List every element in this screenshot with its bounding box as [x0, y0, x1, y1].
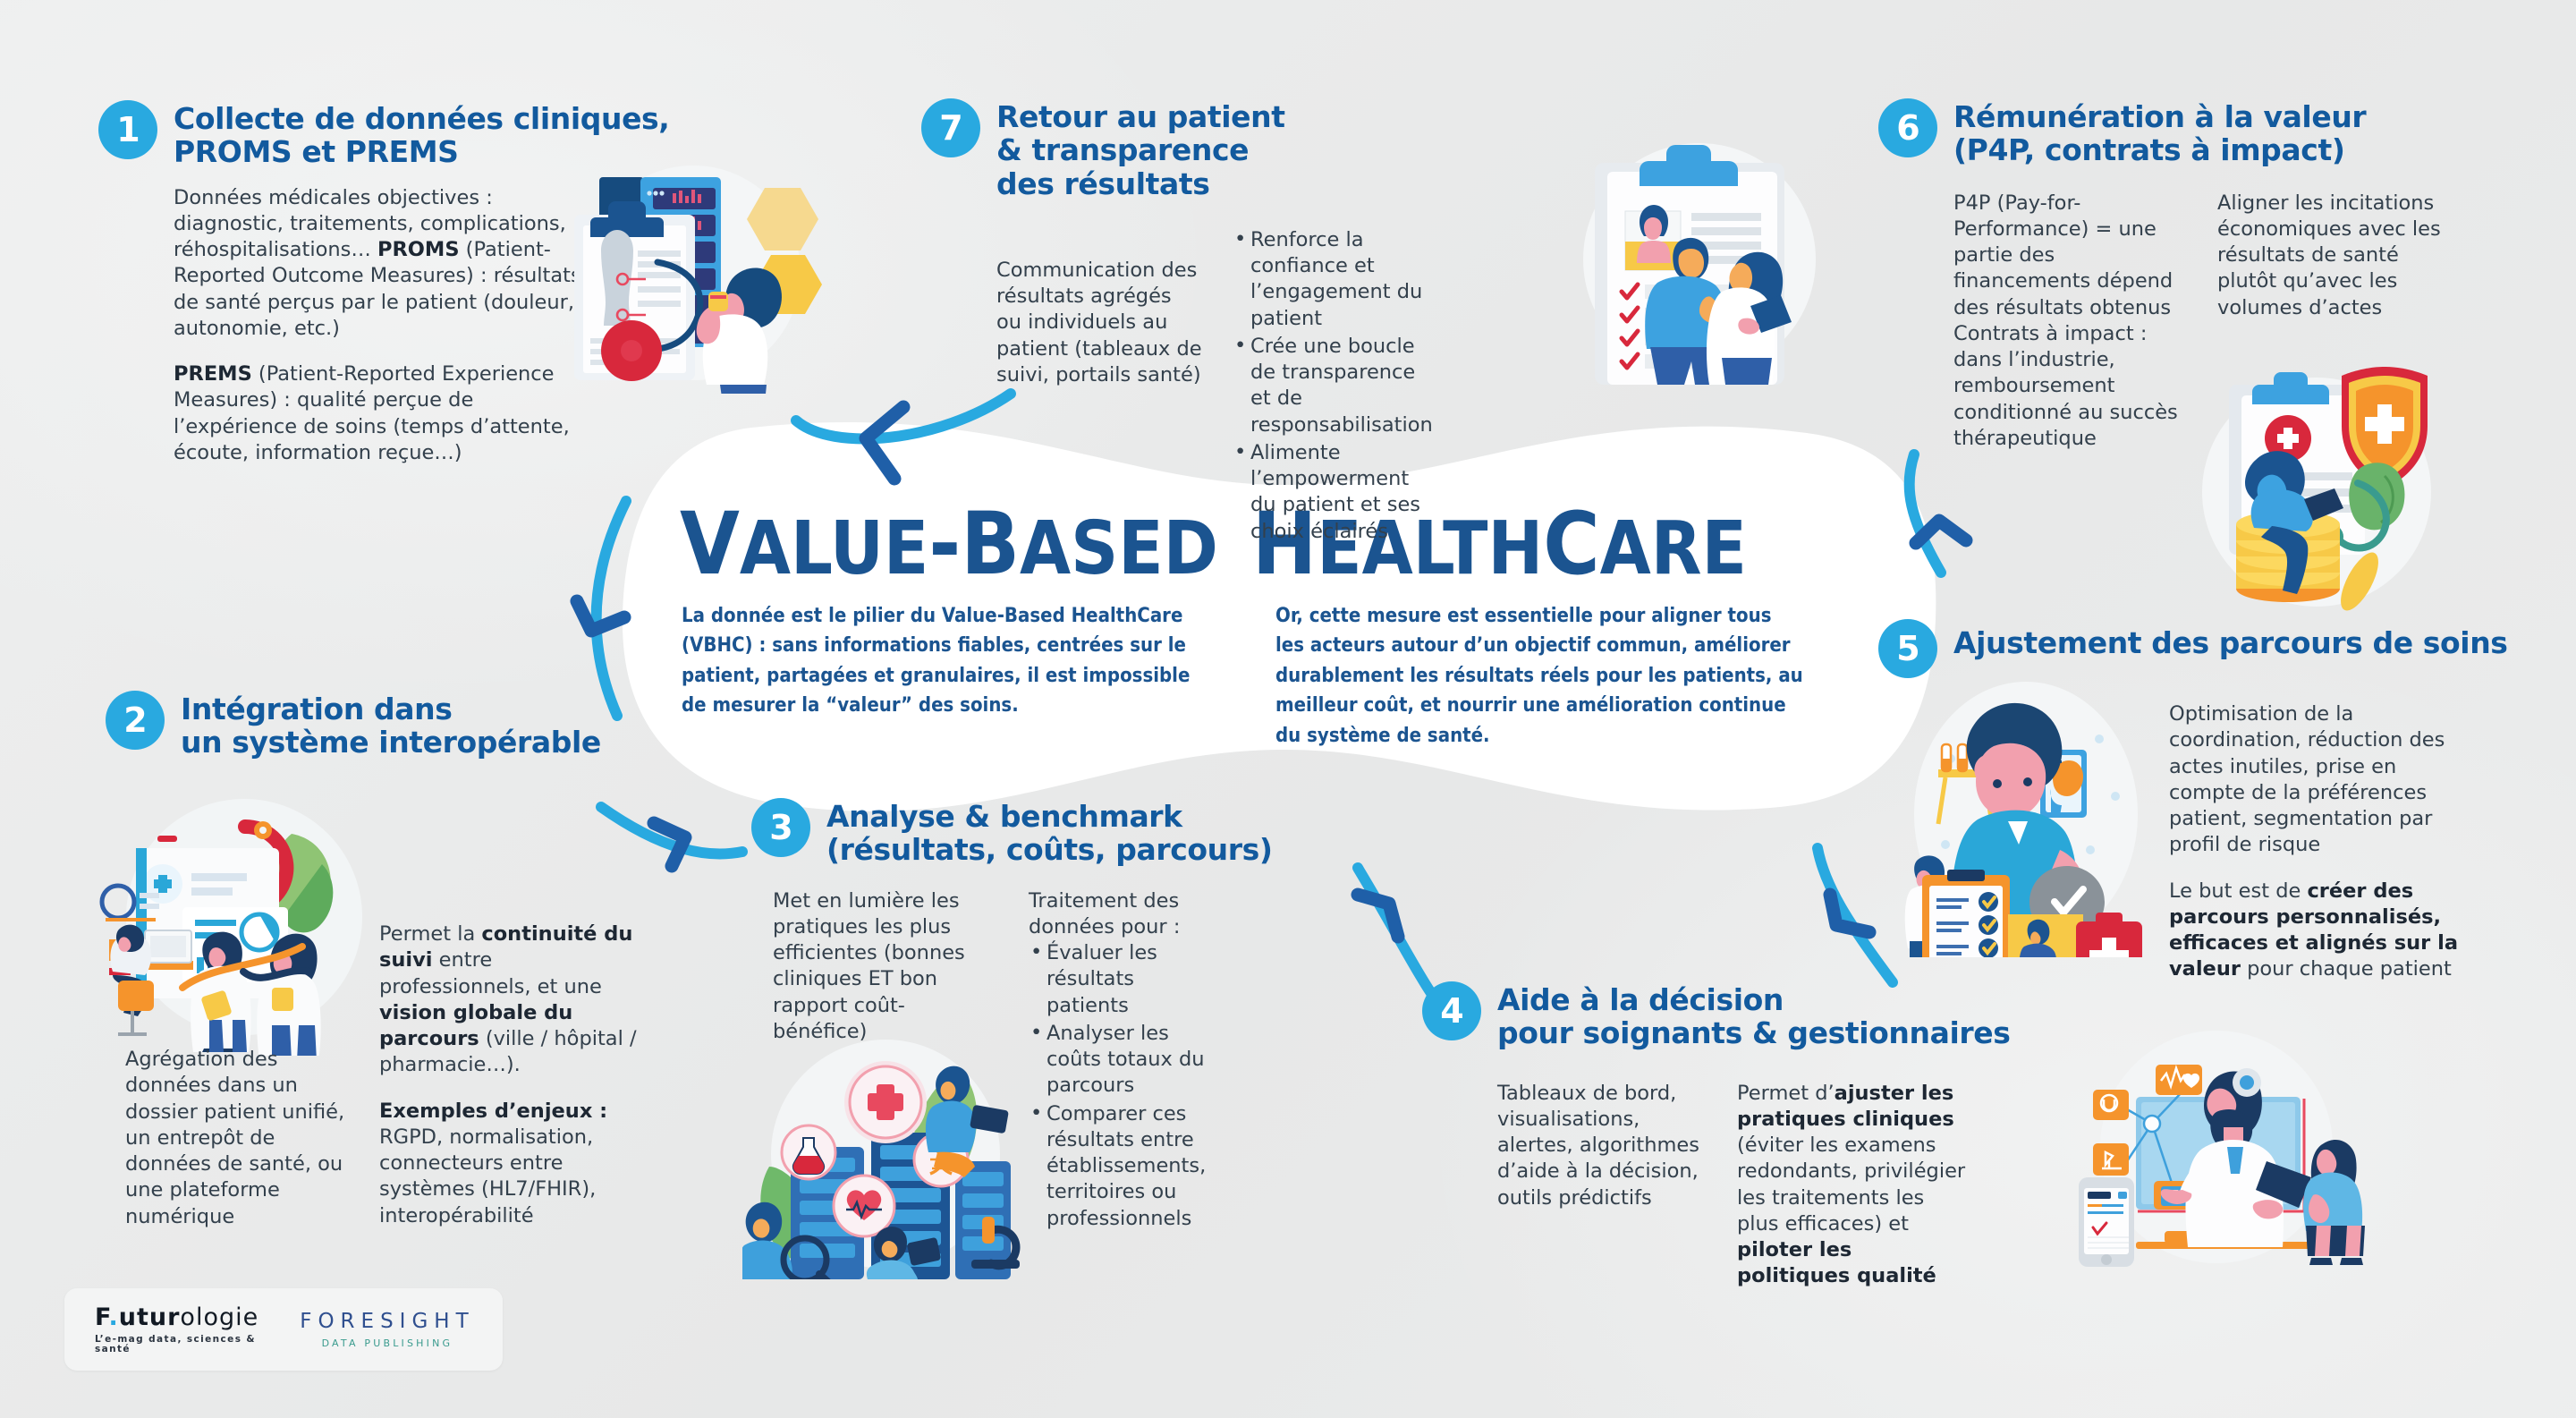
illustration-interoperable-system — [97, 796, 401, 1056]
futurologie-logo: F.uturologie L’e-mag data, sciences & sa… — [95, 1305, 258, 1354]
step-3-right-text: Traitement des données pour : Évaluer le… — [1029, 888, 1216, 1234]
step-4-right-text: Permet d’ajuster les pratiques cliniques… — [1737, 1081, 1970, 1290]
futurologie-tagline: L’e-mag data, sciences & santé — [95, 1335, 258, 1354]
list-item: Évaluer les résultats patients — [1029, 940, 1216, 1019]
futurologie-dot: . — [108, 1303, 118, 1331]
step-2-right-para-2: Exemples d’enjeux : RGPD, normalisation,… — [379, 1099, 639, 1229]
list-item: Comparer ces résultats entre établisseme… — [1029, 1101, 1216, 1232]
s4-rc: (éviter les examens redondants, privilég… — [1737, 1134, 1965, 1235]
step-4-head: 4 Aide à la décision pour soignants & ge… — [1422, 980, 2084, 1050]
step-7-columns: Communication des résultats agrégés ou i… — [996, 227, 1583, 547]
step-7-title: Retour au patient & transparence des rés… — [996, 97, 1285, 200]
s4-rd: piloter les politiques qualité — [1737, 1238, 1936, 1287]
vbhc-rest-are: ARE — [1600, 506, 1747, 591]
infographic-canvas: VALUE-BASEDHEALTHCARE La donnée est le p… — [0, 0, 2576, 1418]
futurologie-ologie: ologie — [180, 1303, 258, 1331]
step-5-title-line-1: Ajustement des parcours de soins — [1953, 626, 2508, 659]
step-4-columns: Tableaux de bord, visualisations, alerte… — [1497, 1081, 2084, 1290]
step-6-title-line-1: Rémunération à la valeur — [1953, 100, 2366, 133]
step-1-para-2: PREMS (Patient-Reported Experience Measu… — [174, 361, 585, 466]
step-7-title-line-3: des résultats — [996, 167, 1285, 200]
vbhc-cap-v: V — [680, 494, 740, 594]
step-2-number: 2 — [106, 691, 165, 750]
step-7-left-text: Communication des résultats agrégés ou i… — [996, 227, 1202, 547]
step-2: 2 Intégration dans un système interopéra… — [106, 689, 696, 760]
step-7-head: 7 Retour au patient & transparence des r… — [921, 97, 1583, 200]
step-6-title-line-2: (P4P, contrats à impact) — [1953, 133, 2366, 166]
step-5-para-1: Optimisation de la coordination, réducti… — [2169, 701, 2473, 859]
illustration-care-pathway — [1892, 662, 2151, 957]
list-item: Alimente l’empowerment du patient et ses… — [1233, 440, 1425, 545]
step-3-title-line-1: Analyse & benchmark — [826, 800, 1273, 833]
step-5-para-2: Le but est de créer des parcours personn… — [2169, 879, 2473, 983]
step-3-title-line-2: (résultats, coûts, parcours) — [826, 833, 1273, 866]
futurologie-f: F — [95, 1303, 108, 1331]
step-6-title: Rémunération à la valeur (P4P, contrats … — [1953, 97, 2366, 167]
step-7-number: 7 — [921, 98, 980, 157]
step-6-head: 6 Rémunération à la valeur (P4P, contrat… — [1878, 97, 2522, 167]
step-4: 4 Aide à la décision pour soignants & ge… — [1422, 980, 2084, 1290]
step-1-number: 1 — [98, 100, 157, 159]
step-4-title-line-2: pour soignants & gestionnaires — [1497, 1016, 2011, 1049]
step-2-head: 2 Intégration dans un système interopéra… — [106, 689, 696, 760]
center-paragraphs: La donnée est le pilier du Value-Based H… — [682, 601, 1871, 751]
step-4-title-line-1: Aide à la décision — [1497, 983, 2011, 1016]
vbhc-rest-alue: ALUE — [740, 506, 929, 591]
s2-r2-label: Exemples d’enjeux : — [379, 1100, 607, 1123]
step-3-right-intro: Traitement des données pour : — [1029, 888, 1216, 941]
list-item: Renforce la confiance et l’engagement du… — [1233, 227, 1425, 332]
step-7-title-line-2: & transparence — [996, 133, 1285, 166]
step-2-left-text: Agrégation des données dans un dossier p… — [125, 1047, 349, 1230]
step-1-prems-label: PREMS — [174, 362, 252, 386]
s4-ra: Permet d’ — [1737, 1082, 1835, 1105]
step-3-head: 3 Analyse & benchmark (résultats, coûts,… — [751, 796, 1324, 867]
illustration-decision-support — [2057, 1011, 2370, 1270]
step-5-para-2-c: pour chaque patient — [2241, 957, 2452, 981]
step-6-left-text: P4P (Pay-for-Performance) = une partie d… — [1953, 191, 2182, 453]
step-2-columns: Agrégation des données dans un dossier p… — [125, 1047, 698, 1230]
step-1-body: Données médicales objectives : diagnosti… — [174, 185, 585, 467]
step-6-number: 6 — [1878, 98, 1937, 157]
illustration-patient-feedback — [1543, 107, 1838, 385]
illustration-analysis-benchmark — [742, 1020, 1038, 1279]
step-5-body: Optimisation de la coordination, réducti… — [2169, 701, 2473, 983]
step-4-number: 4 — [1422, 981, 1481, 1040]
step-2-right-text: Permet la continuité du suivi entre prof… — [379, 921, 639, 1230]
illustration-clinical-data — [537, 125, 832, 394]
step-7: 7 Retour au patient & transparence des r… — [921, 97, 1583, 547]
step-7-bullets: Renforce la confiance et l’engagement du… — [1233, 227, 1425, 547]
s2-r1a: Permet la — [379, 922, 481, 946]
step-5-title: Ajustement des parcours de soins — [1953, 617, 2508, 659]
step-1-proms-label: PROMS — [377, 238, 460, 261]
step-3-title: Analyse & benchmark (résultats, coûts, p… — [826, 796, 1273, 867]
foresight-logo: FORESIGHT DATA PUBLISHING — [300, 1312, 474, 1348]
step-4-left-text: Tableaux de bord, visualisations, alerte… — [1497, 1081, 1703, 1290]
foresight-wordmark: FORESIGHT — [300, 1312, 474, 1332]
center-paragraph-left: La donnée est le pilier du Value-Based H… — [682, 601, 1211, 751]
step-4-title: Aide à la décision pour soignants & gest… — [1497, 980, 2011, 1050]
illustration-value-payment — [2173, 358, 2460, 617]
center-paragraph-right: Or, cette mesure est essentielle pour al… — [1275, 601, 1805, 751]
step-3-bullets: Évaluer les résultats patients Analyser … — [1029, 940, 1216, 1232]
futurologie-utur: utur — [119, 1303, 181, 1331]
step-5-para-2-a: Le but est de — [2169, 879, 2307, 903]
step-7-title-line-1: Retour au patient — [996, 100, 1285, 133]
list-item: Analyser les coûts totaux du parcours — [1029, 1021, 1216, 1100]
foresight-tagline: DATA PUBLISHING — [300, 1338, 474, 1348]
step-2-right-para-1: Permet la continuité du suivi entre prof… — [379, 921, 639, 1079]
step-2-title-line-2: un système interopérable — [181, 726, 601, 759]
step-2-title-line-1: Intégration dans — [181, 692, 601, 726]
list-item: Crée une boucle de transparence et de re… — [1233, 334, 1425, 438]
step-4-right-para: Permet d’ajuster les pratiques cliniques… — [1737, 1081, 1970, 1290]
logo-bar: F.uturologie L’e-mag data, sciences & sa… — [64, 1288, 503, 1371]
s2-r2-rest: RGPD, normalisation, connecteurs entre s… — [379, 1125, 596, 1227]
futurologie-wordmark: F.uturologie — [95, 1305, 258, 1329]
step-3-number: 3 — [751, 798, 810, 857]
step-2-title: Intégration dans un système interopérabl… — [181, 689, 601, 760]
step-1-para-1: Données médicales objectives : diagnosti… — [174, 185, 585, 343]
